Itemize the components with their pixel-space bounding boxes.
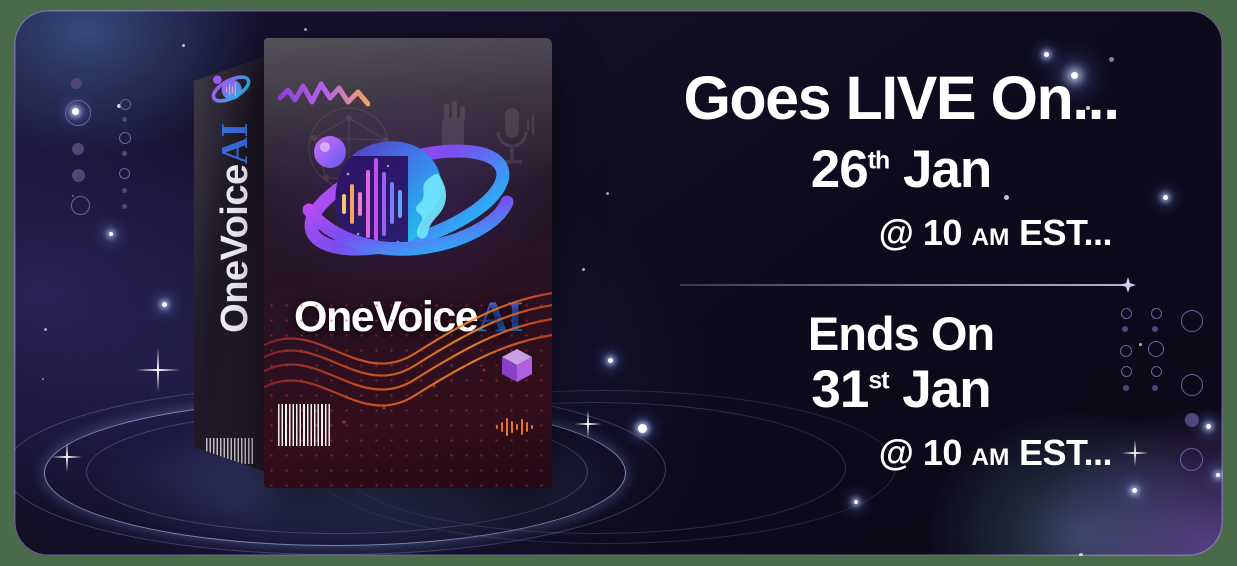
star xyxy=(1109,57,1114,62)
launch-date: 26th Jan xyxy=(666,143,1136,196)
star xyxy=(42,378,44,380)
launch-month: Jan xyxy=(903,140,991,199)
star xyxy=(638,424,647,433)
decor-dot xyxy=(122,151,127,156)
decor-dot xyxy=(1152,385,1158,391)
launch-info-panel: Goes LIVE On... 26th Jan @ 10 AM EST... … xyxy=(666,68,1136,508)
decor-dot xyxy=(122,117,127,122)
decor-dot xyxy=(1185,413,1199,427)
ends-date-suffix: st xyxy=(868,366,888,394)
star xyxy=(304,28,307,31)
ends-time-zone: EST... xyxy=(1019,432,1112,473)
decor-dot xyxy=(119,168,130,179)
star xyxy=(1163,195,1168,200)
star xyxy=(582,268,585,271)
star xyxy=(162,302,167,307)
launch-date-number: 26 xyxy=(811,140,868,199)
decor-dot xyxy=(122,188,127,193)
ends-on-headline: Ends On xyxy=(666,310,1136,357)
decor-dot xyxy=(122,204,127,209)
decor-dot xyxy=(1151,308,1162,319)
decor-dot xyxy=(71,78,82,89)
audio-waveform-icon xyxy=(278,78,370,112)
ends-time-at: @ xyxy=(879,432,914,473)
decor-dot xyxy=(119,132,131,144)
ends-date: 31st Jan xyxy=(666,363,1136,416)
decor-dot xyxy=(120,99,131,110)
ends-time-meridiem: AM xyxy=(971,444,1009,471)
launch-time: @ 10 AM EST... xyxy=(666,212,1112,254)
barcode-icon xyxy=(206,438,254,464)
launch-time-hour: 10 xyxy=(923,212,962,253)
star xyxy=(1206,424,1211,429)
diamond-sparkle-icon xyxy=(1120,277,1136,293)
ends-info-block: Ends On 31st Jan @ 10 AM EST... xyxy=(666,310,1136,474)
decor-dot xyxy=(1181,310,1203,332)
audio-waveform-icon xyxy=(494,418,538,436)
decor-dot xyxy=(71,196,90,215)
decor-dot xyxy=(72,169,85,182)
decor-dot xyxy=(65,100,91,126)
sparkle-icon xyxy=(574,410,602,438)
purple-cube-icon xyxy=(500,348,534,384)
spine-name-accent: AI xyxy=(214,123,256,164)
ends-date-number: 31 xyxy=(811,360,868,419)
star xyxy=(72,108,79,115)
goes-live-headline: Goes LIVE On... xyxy=(666,68,1136,129)
star xyxy=(1216,473,1220,477)
decor-dot xyxy=(72,195,74,197)
decor-dot xyxy=(1181,374,1203,396)
launch-time-meridiem: AM xyxy=(971,224,1009,251)
halftone-dot-grid xyxy=(264,298,552,488)
sparkle-icon xyxy=(52,442,82,472)
decor-dot xyxy=(1151,366,1162,377)
promo-banner: OneVoiceAI xyxy=(14,10,1223,556)
star xyxy=(109,232,113,236)
product-box-front: OneVoiceAI xyxy=(264,38,552,488)
decor-dot xyxy=(1180,448,1203,471)
section-divider xyxy=(680,284,1128,286)
star xyxy=(44,328,47,331)
spine-name-white: OneVoice xyxy=(214,164,256,332)
star xyxy=(117,104,121,108)
launch-time-at: @ xyxy=(879,212,914,253)
star xyxy=(182,44,185,47)
decor-dot xyxy=(72,143,84,155)
star xyxy=(608,358,613,363)
star xyxy=(1079,553,1083,556)
star xyxy=(1044,52,1049,57)
launch-time-zone: EST... xyxy=(1019,212,1112,253)
star xyxy=(1139,343,1142,346)
ends-time-hour: 10 xyxy=(923,432,962,473)
star xyxy=(606,192,609,195)
product-box: OneVoiceAI xyxy=(194,38,552,488)
ends-month: Jan xyxy=(902,360,990,419)
sparkle-icon xyxy=(136,348,180,392)
decor-dot xyxy=(1152,326,1158,332)
launch-date-suffix: th xyxy=(868,146,890,174)
ends-time: @ 10 AM EST... xyxy=(666,432,1112,474)
product-box-spine-title: OneVoiceAI xyxy=(213,63,257,393)
decor-dot xyxy=(1148,341,1164,357)
product-box-spine: OneVoiceAI xyxy=(194,56,266,472)
barcode-icon xyxy=(278,404,332,446)
